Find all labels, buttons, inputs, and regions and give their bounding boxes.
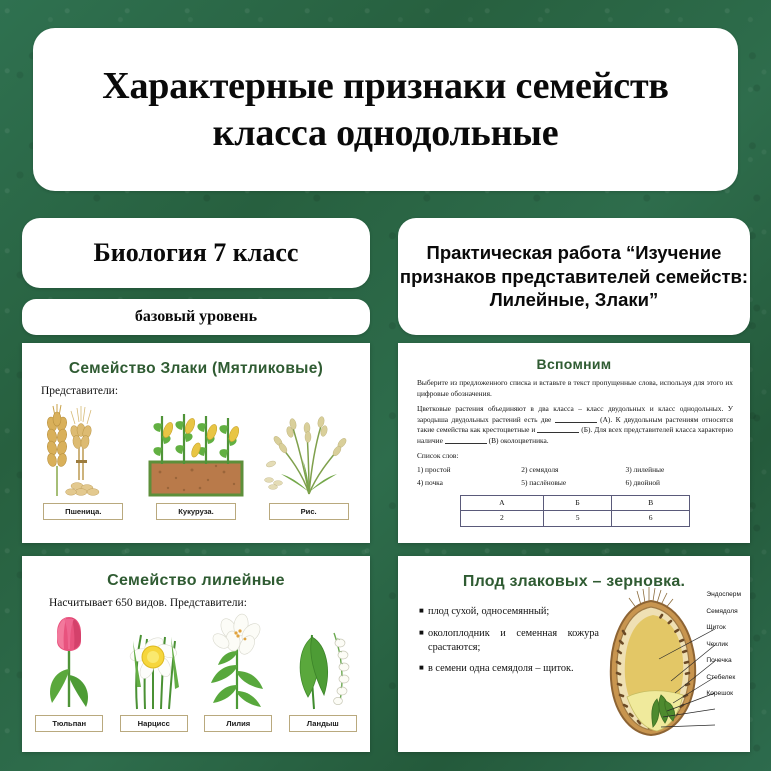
tulip-icon <box>34 611 104 711</box>
recall-body: Выберите из предложенного списка и встав… <box>417 378 733 527</box>
rice-icon <box>259 402 359 498</box>
table-header-cell: А <box>461 495 544 511</box>
lilies-figure-row <box>27 611 365 711</box>
table-row: А Б В <box>461 495 690 511</box>
grasses-subtitle: Представители: <box>41 385 365 397</box>
word-list-row: 4) почка 5) паслёновые 6) двойной <box>417 478 733 489</box>
grain-bullet-list: ■ плод сухой, односемянный; ■ околоплодн… <box>419 605 599 684</box>
grasses-title: Семейство Злаки (Мятликовые) <box>27 360 365 378</box>
list-item: ■ в семени одна семядоля – щиток. <box>419 662 599 676</box>
word-item: 4) почка <box>417 478 521 489</box>
word-item: 2) семядоля <box>521 465 625 476</box>
slide-recall[interactable]: Вспомним Выберите из предложенного списк… <box>398 343 750 543</box>
task-part-4: (В) околоцветника. <box>489 436 549 445</box>
subject-label: Биология 7 класс <box>94 238 299 268</box>
plant-label: Кукуруза. <box>156 503 236 520</box>
lilies-subtitle: Насчитывает 650 видов. Представители: <box>49 597 365 609</box>
word-list-title: Список слов: <box>417 451 733 462</box>
table-value-cell: 6 <box>612 511 690 527</box>
list-item: ■ околоплодник и семенная кожура срастаю… <box>419 627 599 655</box>
plant-label: Рис. <box>269 503 349 520</box>
word-list: Список слов: 1) простой 2) семядоля 3) л… <box>417 451 733 489</box>
diagram-label: Щиток <box>706 620 741 637</box>
word-item: 5) паслёновые <box>521 478 625 489</box>
plant-label: Нарцисс <box>120 715 188 732</box>
table-value-cell: 2 <box>461 511 544 527</box>
level-card: базовый уровень <box>22 299 370 335</box>
level-label: базовый уровень <box>135 308 257 326</box>
lilies-label-row: Тюльпан Нарцисс Лилия Ландыш <box>27 715 365 732</box>
lily-icon <box>203 611 273 711</box>
slide-grasses[interactable]: Семейство Злаки (Мятликовые) Представите… <box>22 343 370 543</box>
answer-blank-b <box>537 432 579 433</box>
bullet-square-icon: ■ <box>419 662 428 676</box>
lily-of-the-valley-icon <box>288 611 358 711</box>
plant-label: Пшеница. <box>43 503 123 520</box>
recall-task: Цветковые растения объединяют в два клас… <box>417 404 733 446</box>
corn-icon <box>146 402 246 498</box>
plant-label: Ландыш <box>289 715 357 732</box>
practical-work-card: Практическая работа “Изучение признаков … <box>398 218 750 335</box>
grasses-label-row: Пшеница. Кукуруза. Рис. <box>27 503 365 520</box>
bullet-text: околоплодник и семенная кожура срастаютс… <box>428 627 599 655</box>
lilies-title: Семейство лилейные <box>27 572 365 590</box>
plant-label: Лилия <box>204 715 272 732</box>
table-row: 2 5 6 <box>461 511 690 527</box>
page-title: Характерные признаки семейств класса одн… <box>33 63 738 156</box>
answer-table: А Б В 2 5 6 <box>460 495 690 528</box>
daffodil-icon <box>119 611 189 711</box>
table-value-cell: 5 <box>543 511 612 527</box>
diagram-label: Стебелек <box>706 670 741 687</box>
plant-label: Тюльпан <box>35 715 103 732</box>
word-list-row: 1) простой 2) семядоля 3) лилейные <box>417 465 733 476</box>
word-item: 3) лилейные <box>626 465 730 476</box>
answer-blank-a <box>555 422 597 423</box>
table-header-cell: Б <box>543 495 612 511</box>
diagram-label: Чехлик <box>706 637 741 654</box>
subject-card: Биология 7 класс <box>22 218 370 288</box>
table-header-cell: В <box>612 495 690 511</box>
grasses-figure-row <box>27 400 365 498</box>
answer-blank-v <box>445 443 487 444</box>
word-item: 1) простой <box>417 465 521 476</box>
bullet-square-icon: ■ <box>419 605 428 619</box>
main-title-card: Характерные признаки семейств класса одн… <box>33 28 738 191</box>
recall-intro: Выберите из предложенного списка и встав… <box>417 378 733 399</box>
diagram-label: Семядоля <box>706 604 741 621</box>
diagram-label: Эндосперм <box>706 587 741 604</box>
bullet-text: в семени одна семядоля – щиток. <box>428 662 599 676</box>
wheat-icon <box>33 402 133 498</box>
diagram-label: Почечка <box>706 653 741 670</box>
list-item: ■ плод сухой, односемянный; <box>419 605 599 619</box>
bullet-square-icon: ■ <box>419 627 428 655</box>
grain-diagram-labels: Эндосперм Семядоля Щиток Чехлик Почечка … <box>706 587 741 703</box>
word-item: 6) двойной <box>626 478 730 489</box>
slide-page: Характерные признаки семейств класса одн… <box>0 0 771 771</box>
practical-work-label: Практическая работа “Изучение признаков … <box>398 241 750 312</box>
slide-lilies[interactable]: Семейство лилейные Насчитывает 650 видов… <box>22 556 370 752</box>
bullet-text: плод сухой, односемянный; <box>428 605 599 619</box>
diagram-label: Корешок <box>706 686 741 703</box>
slide-grain[interactable]: Плод злаковых – зерновка. ■ плод сухой, … <box>398 556 750 752</box>
recall-title: Вспомним <box>403 356 745 372</box>
